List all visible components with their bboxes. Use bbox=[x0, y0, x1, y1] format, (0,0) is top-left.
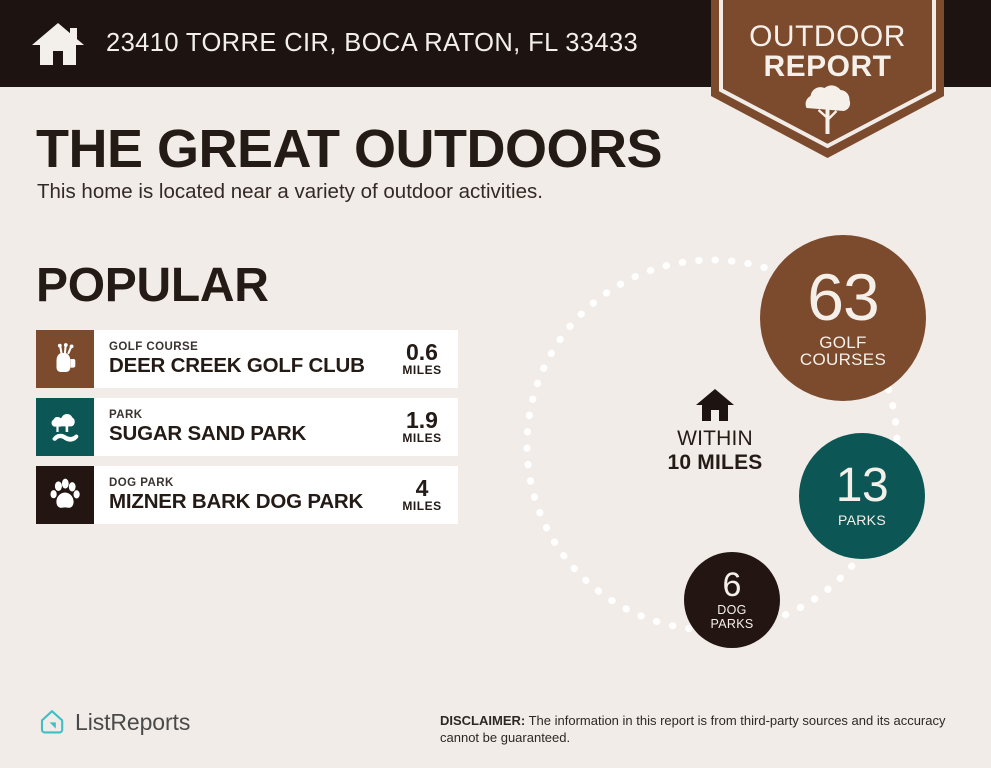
badge-shield-shape bbox=[711, 0, 944, 158]
item-category: DOG PARK bbox=[109, 477, 400, 490]
property-address: 23410 TORRE CIR, BOCA RATON, FL 33433 bbox=[106, 29, 638, 58]
disclaimer: DISCLAIMER: The information in this repo… bbox=[440, 712, 956, 747]
home-icon bbox=[30, 21, 86, 67]
stat-label-line-1: GOLF bbox=[819, 333, 867, 352]
item-distance: 4 MILES bbox=[400, 466, 458, 524]
outdoor-report-page: 23410 TORRE CIR, BOCA RATON, FL 33433 OU… bbox=[0, 0, 991, 768]
within-label: WITHIN bbox=[645, 427, 785, 451]
logo-text: ListReports bbox=[75, 709, 190, 736]
popular-list: GOLF COURSE DEER CREEK GOLF CLUB 0.6 MIL… bbox=[36, 330, 458, 534]
item-name: MIZNER BARK DOG PARK bbox=[109, 491, 400, 514]
item-category: GOLF COURSE bbox=[109, 341, 400, 354]
listreports-logo[interactable]: ListReports bbox=[38, 708, 190, 736]
stat-number: 63 bbox=[807, 267, 878, 328]
distance-value: 1.9 bbox=[406, 408, 438, 432]
distance-unit: MILES bbox=[402, 364, 441, 377]
within-distance: 10 MILES bbox=[645, 451, 785, 475]
stat-label-line-1: DOG bbox=[717, 603, 746, 617]
item-icon-tile bbox=[36, 398, 94, 456]
item-distance: 0.6 MILES bbox=[400, 330, 458, 388]
paw-print-icon bbox=[49, 478, 81, 512]
popular-section-heading: POPULAR bbox=[36, 258, 269, 313]
list-item[interactable]: PARK SUGAR SAND PARK 1.9 MILES bbox=[36, 398, 458, 456]
list-item[interactable]: DOG PARK MIZNER BARK DOG PARK 4 MILES bbox=[36, 466, 458, 524]
outdoor-report-badge: OUTDOOR REPORT bbox=[711, 0, 944, 158]
stat-circle-dog-parks: 6 DOG PARKS bbox=[684, 552, 780, 648]
item-icon-tile bbox=[36, 330, 94, 388]
stat-number: 6 bbox=[723, 569, 742, 601]
item-name: SUGAR SAND PARK bbox=[109, 423, 400, 446]
item-text: GOLF COURSE DEER CREEK GOLF CLUB bbox=[94, 330, 400, 388]
golf-bag-icon bbox=[48, 342, 82, 376]
stat-circle-parks: 13 PARKS bbox=[799, 433, 925, 559]
list-item[interactable]: GOLF COURSE DEER CREEK GOLF CLUB 0.6 MIL… bbox=[36, 330, 458, 388]
stat-label: PARKS bbox=[838, 513, 886, 528]
item-category: PARK bbox=[109, 409, 400, 422]
page-title: THE GREAT OUTDOORS bbox=[36, 118, 662, 180]
disclaimer-label: DISCLAIMER: bbox=[440, 713, 525, 728]
stat-label: DOG PARKS bbox=[711, 604, 754, 631]
home-icon bbox=[695, 388, 735, 422]
item-text: PARK SUGAR SAND PARK bbox=[94, 398, 400, 456]
park-trees-icon bbox=[48, 411, 82, 443]
house-tag-icon bbox=[38, 708, 66, 736]
stat-label-line-2: COURSES bbox=[800, 350, 886, 369]
within-radius-block: WITHIN 10 MILES bbox=[645, 388, 785, 475]
stat-label-line-2: PARKS bbox=[711, 617, 754, 631]
distance-unit: MILES bbox=[402, 500, 441, 513]
page-subtitle: This home is located near a variety of o… bbox=[37, 180, 543, 204]
item-distance: 1.9 MILES bbox=[400, 398, 458, 456]
item-icon-tile bbox=[36, 466, 94, 524]
stat-label: GOLF COURSES bbox=[800, 334, 886, 369]
stat-number: 13 bbox=[836, 464, 888, 508]
distance-value: 0.6 bbox=[406, 340, 438, 364]
stat-circle-golf-courses: 63 GOLF COURSES bbox=[760, 235, 926, 401]
item-name: DEER CREEK GOLF CLUB bbox=[109, 355, 400, 378]
distance-unit: MILES bbox=[402, 432, 441, 445]
item-text: DOG PARK MIZNER BARK DOG PARK bbox=[94, 466, 400, 524]
distance-value: 4 bbox=[416, 476, 429, 500]
